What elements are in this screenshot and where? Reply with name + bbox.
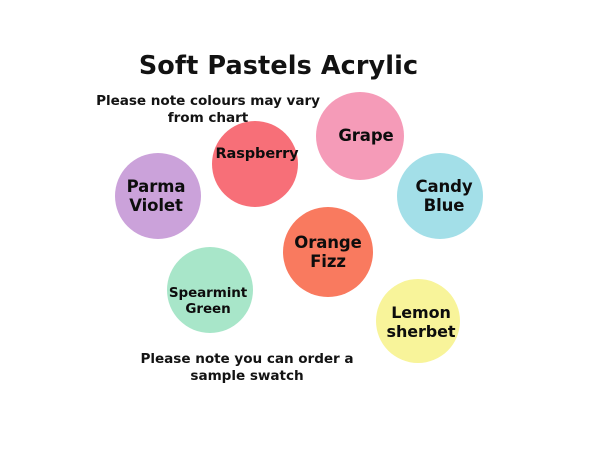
- swatch-label-line-1: Candy: [415, 177, 472, 196]
- swatch-label-line-2: Violet: [127, 196, 186, 215]
- swatch-candy-blue[interactable]: Candy Blue: [397, 153, 483, 239]
- note-top-line-1: Please note colours may vary: [92, 93, 324, 110]
- swatch-label-lemon-sherbet: Lemon sherbet: [383, 304, 460, 341]
- swatch-label-line-1: Raspberry: [215, 146, 298, 163]
- swatch-orange-fizz[interactable]: Orange Fizz: [283, 207, 373, 297]
- swatch-label-line-2: Blue: [415, 196, 472, 215]
- note-colours-may-vary: Please note colours may vary from chart: [92, 93, 324, 128]
- swatch-label-line-1: Spearmint: [169, 286, 247, 302]
- swatch-label-line-1: Grape: [338, 126, 393, 145]
- swatch-label-line-2: sherbet: [387, 323, 456, 342]
- swatch-label-parma-violet: Parma Violet: [123, 177, 190, 215]
- swatch-grape[interactable]: Grape: [316, 92, 404, 180]
- swatch-spearmint-green[interactable]: Spearmint Green: [167, 247, 253, 333]
- swatch-label-orange-fizz: Orange Fizz: [290, 233, 365, 271]
- swatch-label-line-2: Fizz: [294, 252, 361, 271]
- swatch-label-grape: Grape: [334, 126, 397, 145]
- colour-chart-canvas: Soft Pastels Acrylic Please note colours…: [0, 0, 600, 450]
- swatch-label-line-1: Parma: [127, 177, 186, 196]
- swatch-raspberry[interactable]: Raspberry: [212, 121, 298, 207]
- swatch-label-line-2: Green: [169, 302, 247, 318]
- note-sample-swatch: Please note you can order a sample swatc…: [127, 351, 367, 386]
- swatch-label-line-1: Orange: [294, 233, 361, 252]
- swatch-label-line-1: Lemon: [387, 304, 456, 323]
- note-bottom-line-1: Please note you can order a: [127, 351, 367, 368]
- swatch-label-candy-blue: Candy Blue: [411, 177, 476, 215]
- note-top-line-2: from chart: [92, 110, 324, 127]
- note-bottom-line-2: sample swatch: [127, 368, 367, 385]
- swatch-label-raspberry: Raspberry: [211, 146, 302, 163]
- swatch-parma-violet[interactable]: Parma Violet: [115, 153, 201, 239]
- swatch-lemon-sherbet[interactable]: Lemon sherbet: [376, 279, 460, 363]
- page-title: Soft Pastels Acrylic: [0, 52, 557, 80]
- swatch-label-spearmint-green: Spearmint Green: [165, 286, 251, 317]
